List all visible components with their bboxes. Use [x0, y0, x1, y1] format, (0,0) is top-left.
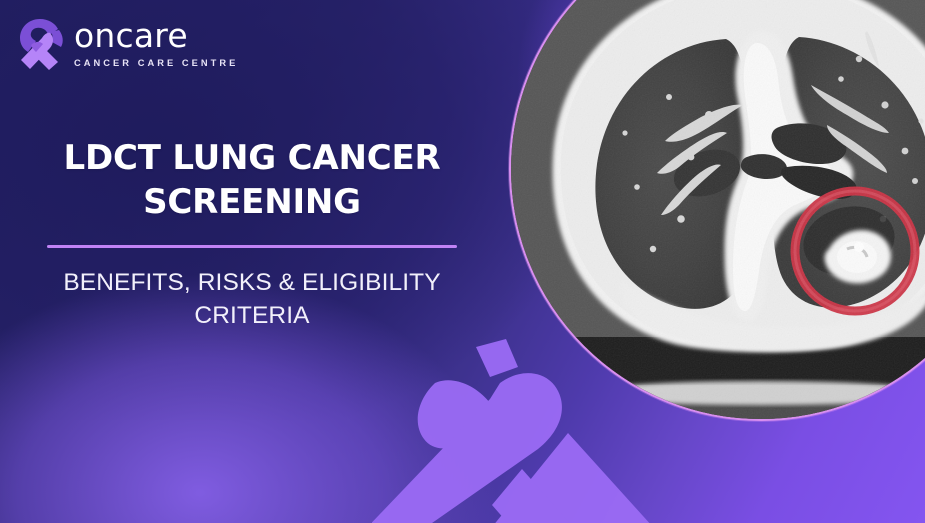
page-title: LDCT LUNG CANCER SCREENING	[22, 137, 482, 224]
subhead-line-2: CRITERIA	[194, 302, 309, 329]
brand-logo[interactable]: oncare CANCER CARE CENTRE	[18, 17, 238, 70]
ct-image-inner	[511, 0, 925, 419]
title-divider	[47, 245, 457, 248]
logo-text-group: oncare CANCER CARE CENTRE	[74, 19, 238, 68]
awareness-ribbon-logo-icon	[18, 17, 65, 70]
logo-wordmark: oncare	[74, 19, 238, 52]
banner-root: oncare CANCER CARE CENTRE LDCT LUNG CANC…	[0, 0, 925, 523]
ct-scan-graphic	[511, 0, 925, 419]
headline-block: LDCT LUNG CANCER SCREENING BENEFITS, RIS…	[22, 137, 482, 333]
chest-ct-image	[509, 0, 925, 421]
headline-line-1: LDCT LUNG CANCER	[63, 138, 440, 178]
subhead-line-1: BENEFITS, RISKS & ELIGIBILITY	[63, 269, 440, 296]
logo-tagline: CANCER CARE CENTRE	[74, 58, 238, 68]
page-subtitle: BENEFITS, RISKS & ELIGIBILITY CRITERIA	[22, 267, 482, 333]
headline-line-2: SCREENING	[143, 182, 361, 222]
